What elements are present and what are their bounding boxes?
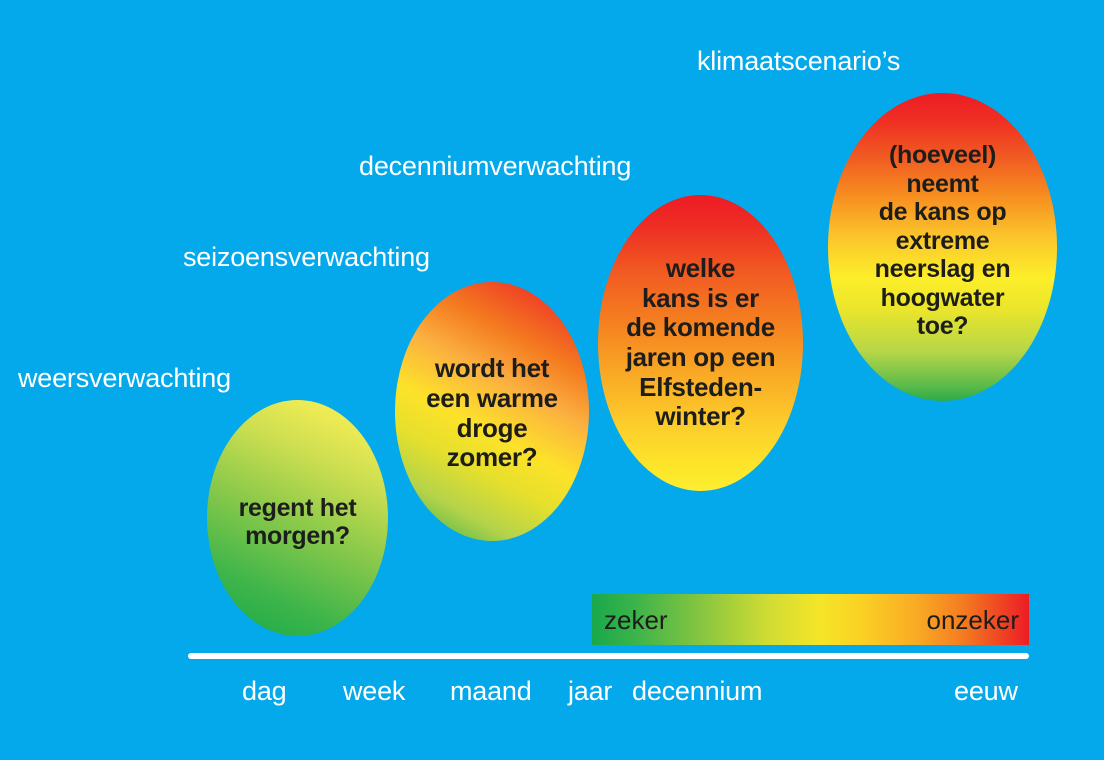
legend-label-zeker: zeker <box>604 607 668 633</box>
legend-label-onzeker: onzeker <box>927 607 1020 633</box>
axis-tick-maand: maand <box>450 678 532 705</box>
category-label-klimaatscenarios: klimaatscenario’s <box>697 48 900 75</box>
category-label-decenniumverwachting: decenniumverwachting <box>359 153 631 180</box>
certainty-colorbar: zeker onzeker <box>592 594 1029 645</box>
axis-tick-dag: dag <box>242 678 286 705</box>
category-label-seizoensverwachting: seizoensverwachting <box>183 244 430 271</box>
axis-tick-jaar: jaar <box>568 678 612 705</box>
timescale-axis-line <box>188 653 1029 659</box>
bubble-seizoensverwachting: wordt het een warme droge zomer? <box>395 282 589 541</box>
axis-tick-week: week <box>343 678 405 705</box>
timescale-axis-ticks: dag week maand jaar decennium eeuw <box>188 678 1029 718</box>
bubble-klimaatscenarios: (hoeveel) neemt de kans op extreme neers… <box>828 93 1057 401</box>
category-label-weersverwachting: weersverwachting <box>18 365 231 392</box>
infographic-canvas: weersverwachting seizoensverwachting dec… <box>0 0 1104 760</box>
bubble-question-seizoensverwachting: wordt het een warme droge zomer? <box>420 354 564 473</box>
bubble-question-klimaatscenarios: (hoeveel) neemt de kans op extreme neers… <box>869 141 1017 341</box>
bubble-question-decenniumverwachting: welke kans is er de komende jaren op een… <box>620 254 782 432</box>
bubble-weersverwachting: regent het morgen? <box>207 400 388 636</box>
bubble-question-weersverwachting: regent het morgen? <box>233 494 363 551</box>
axis-tick-eeuw: eeuw <box>954 678 1018 705</box>
axis-tick-decennium: decennium <box>632 678 762 705</box>
bubble-decenniumverwachting: welke kans is er de komende jaren op een… <box>598 195 803 491</box>
